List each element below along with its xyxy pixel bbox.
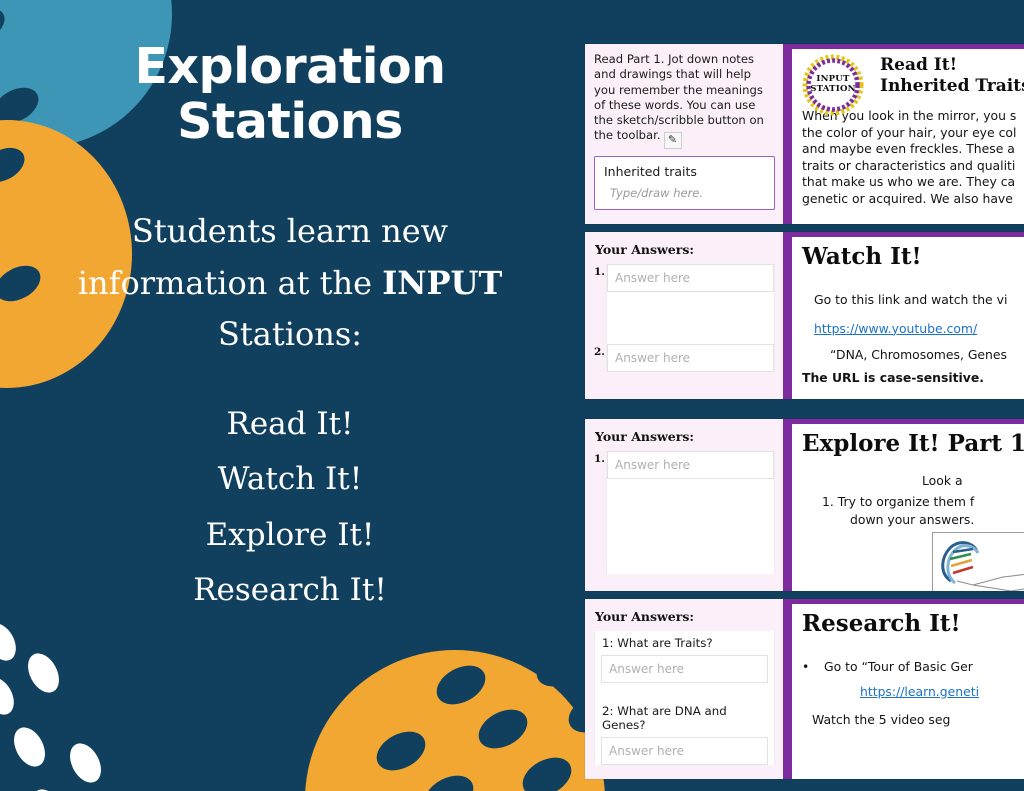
badge-line-2: STATION: [810, 85, 855, 95]
answers-header: Your Answers:: [595, 242, 775, 257]
doc-body-line: traits or characteristics and qualiti: [802, 158, 1024, 175]
instructions-copy: Read Part 1. Jot down notes and drawings…: [594, 52, 764, 142]
station-list: Read It! Watch It! Explore It! Research …: [193, 397, 387, 618]
dna-helix-icon: Gene: [933, 533, 1024, 591]
answer-spacer: [607, 292, 774, 344]
doc-quote-line: “DNA, Chromosomes, Genes: [830, 347, 1014, 364]
doc-intro-line: Go to this link and watch the vi: [814, 292, 1014, 309]
answers-box: 1. Answer here 2. Answer here: [606, 264, 775, 372]
station-item-research-it: Research It!: [193, 563, 387, 618]
doc-body-line: genetic or acquired. We also have: [802, 191, 1024, 208]
question-label-1: 1: What are Traits?: [595, 631, 774, 655]
answer-row: 1. Answer here: [607, 451, 774, 479]
doc-bullet-row: • Go to “Tour of Basic Ger: [802, 659, 1014, 676]
doc-page-research-it: Research It! • Go to “Tour of Basic Ger …: [792, 604, 1024, 779]
answers-header: Your Answers:: [595, 609, 775, 624]
slide-read-it[interactable]: Read Part 1. Jot down notes and drawings…: [585, 44, 1024, 224]
question-label-2: 2: What are DNA and Genes?: [595, 699, 774, 737]
answer-row: 1. Answer here: [607, 264, 774, 292]
left-text-column: Exploration Stations Students learn new …: [0, 0, 580, 791]
doc-page-explore-it: Explore It! Part 1 Look a 1. Try to orga…: [792, 424, 1024, 591]
doc-goto-line: Go to “Tour of Basic Ger: [824, 659, 973, 676]
trait-card-title: Inherited traits: [604, 164, 765, 179]
answer-pane-research-it: Your Answers: 1: What are Traits? Answer…: [585, 599, 783, 779]
doc-title-line-2: Inherited Traits: [880, 76, 1024, 97]
answer-spacer: [607, 479, 774, 574]
title-line-1: Exploration: [55, 40, 525, 95]
doc-note-line: The URL is case-sensitive.: [802, 370, 1014, 387]
answer-pane-read-it: Read Part 1. Jot down notes and drawings…: [585, 44, 783, 224]
answer-pane-watch-it: Your Answers: 1. Answer here 2. Answer h…: [585, 232, 783, 399]
trait-card-placeholder[interactable]: Type/draw here.: [604, 186, 765, 200]
answer-number: 1.: [594, 266, 605, 278]
answers-box: 1. Answer here: [606, 451, 775, 574]
answer-number: 1.: [594, 453, 605, 465]
answers-box: 1: What are Traits? Answer here 2: What …: [594, 631, 775, 765]
doc-title-line-1: Read It!: [880, 55, 1024, 76]
doc-page-watch-it: Watch It! Go to this link and watch the …: [792, 237, 1024, 399]
page-title: Exploration Stations: [55, 40, 525, 150]
input-station-badge: INPUT STATION: [802, 54, 864, 116]
doc-step-line-1: 1. Try to organize them f: [822, 494, 1024, 511]
doc-watch-line: Watch the 5 video seg: [812, 712, 1014, 729]
doc-pane-watch-it: Watch It! Go to this link and watch the …: [783, 232, 1024, 399]
doc-title-research-it: Research It!: [802, 610, 1014, 637]
answer-row: 2. Answer here: [607, 344, 774, 372]
title-line-2: Stations: [55, 95, 525, 150]
doc-body-line: the color of your hair, your eye col: [802, 125, 1024, 142]
input-station-badge-text: INPUT STATION: [802, 54, 864, 116]
doc-title-watch-it: Watch It!: [802, 243, 1014, 270]
doc-body-line: that make us who we are. They ca: [802, 174, 1024, 191]
answer-input-1[interactable]: Answer here: [607, 264, 774, 292]
answer-number: 2.: [594, 346, 605, 358]
doc-pane-research-it: Research It! • Go to “Tour of Basic Ger …: [783, 599, 1024, 779]
subtitle: Students learn new information at the IN…: [75, 206, 505, 361]
doc-pane-read-it: INPUT STATION Read It! Inherited Traits …: [783, 44, 1024, 224]
answer-input-2[interactable]: Answer here: [601, 737, 768, 765]
scribble-icon[interactable]: ✎: [664, 132, 682, 149]
subtitle-part-2: Stations:: [218, 315, 362, 353]
doc-body-line: and maybe even freckles. These a: [802, 141, 1024, 158]
doc-step-line-2: down your answers.: [850, 512, 1024, 529]
video-link[interactable]: https://www.youtube.com/: [814, 321, 1014, 338]
dna-diagram-card: Gene: [932, 532, 1024, 591]
station-item-explore-it: Explore It!: [193, 508, 387, 563]
poster-canvas: Exploration Stations Students learn new …: [0, 0, 1024, 791]
station-item-read-it: Read It!: [193, 397, 387, 452]
doc-page-read-it: INPUT STATION Read It! Inherited Traits …: [792, 49, 1024, 224]
answer-spacer: [595, 683, 774, 699]
bullet-icon: •: [802, 659, 824, 676]
slide-watch-it[interactable]: Your Answers: 1. Answer here 2. Answer h…: [585, 232, 1024, 399]
doc-body-read-it: When you look in the mirror, you s the c…: [802, 108, 1024, 207]
trait-note-card[interactable]: Inherited traits Type/draw here.: [594, 156, 775, 210]
doc-title-explore-it: Explore It! Part 1: [802, 430, 1024, 457]
research-link[interactable]: https://learn.geneti: [860, 684, 1014, 701]
doc-look-line: Look a: [922, 473, 1024, 490]
slide-research-it[interactable]: Your Answers: 1: What are Traits? Answer…: [585, 599, 1024, 779]
doc-pane-explore-it: Explore It! Part 1 Look a 1. Try to orga…: [783, 419, 1024, 591]
answers-header: Your Answers:: [595, 429, 775, 444]
answer-input-2[interactable]: Answer here: [607, 344, 774, 372]
slide-thumbnail-stack: Read Part 1. Jot down notes and drawings…: [585, 0, 1024, 791]
slide-explore-it[interactable]: Your Answers: 1. Answer here Explore It!…: [585, 419, 1024, 591]
subtitle-emphasis: INPUT: [382, 264, 502, 302]
answer-input-1[interactable]: Answer here: [607, 451, 774, 479]
answer-pane-explore-it: Your Answers: 1. Answer here: [585, 419, 783, 591]
answer-input-1[interactable]: Answer here: [601, 655, 768, 683]
instructions-text: Read Part 1. Jot down notes and drawings…: [594, 52, 775, 149]
station-item-watch-it: Watch It!: [193, 452, 387, 507]
